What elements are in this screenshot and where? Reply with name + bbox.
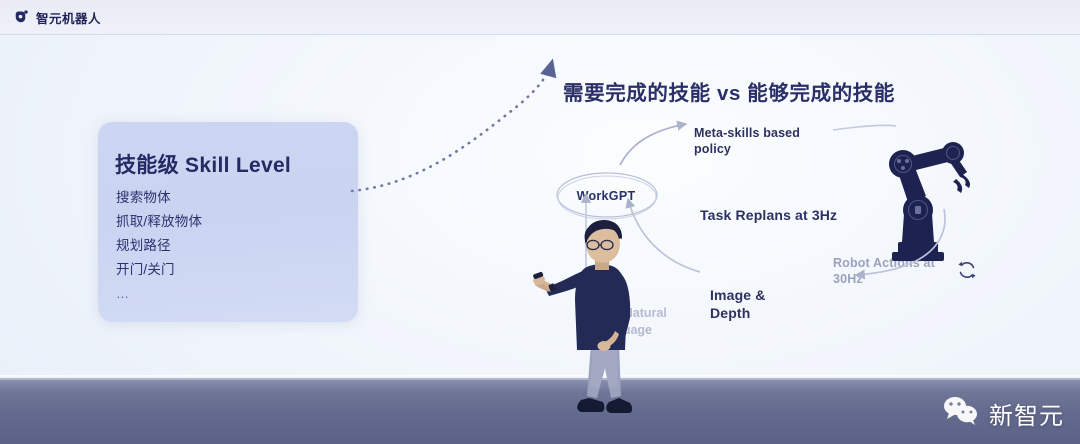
brand-name: 智元机器人 — [36, 8, 101, 27]
zhiyuan-robot-logo-icon — [13, 9, 30, 26]
list-item-ellipsis: … — [116, 282, 202, 306]
dotted-curved-arrow-icon — [352, 62, 552, 191]
list-item: 规划路径 — [116, 234, 202, 258]
list-item: 开门/关门 — [116, 258, 202, 282]
presenter-person — [533, 218, 663, 426]
label-task-replans: Task Replans at 3Hz — [700, 207, 837, 223]
channel-watermark: 新智元 — [941, 395, 1064, 432]
brand-bar: 智元机器人 — [0, 0, 1080, 35]
label-meta-skills-policy: Meta-skills based policy — [694, 125, 824, 157]
list-item: 抓取/释放物体 — [116, 210, 202, 234]
workgpt-node: WorkGPT — [552, 169, 660, 223]
skill-level-list: 搜索物体 抓取/释放物体 规划路径 开门/关门 … — [116, 186, 202, 306]
refresh-cycle-icon — [955, 258, 979, 282]
skill-level-title: 技能级 Skill Level — [115, 149, 291, 179]
workgpt-label: WorkGPT — [552, 169, 660, 223]
arrow-workgpt-to-meta-skills — [620, 124, 686, 165]
label-image-depth: Image & Depth — [710, 286, 790, 322]
skill-level-card: 技能级 Skill Level 搜索物体 抓取/释放物体 规划路径 开门/关门 … — [98, 122, 358, 322]
watermark-label: 新智元 — [989, 396, 1064, 431]
page-title: 需要完成的技能 vs 能够完成的技能 — [563, 76, 895, 106]
brand-logo-group: 智元机器人 — [13, 8, 101, 27]
presentation-screenshot: 智元机器人 技能级 Skill Level 搜索物体 抓取/释放物体 规划路径 … — [0, 0, 1080, 444]
robot-arm-icon — [868, 130, 980, 272]
list-item: 搜索物体 — [116, 186, 202, 210]
wechat-icon — [941, 395, 981, 432]
